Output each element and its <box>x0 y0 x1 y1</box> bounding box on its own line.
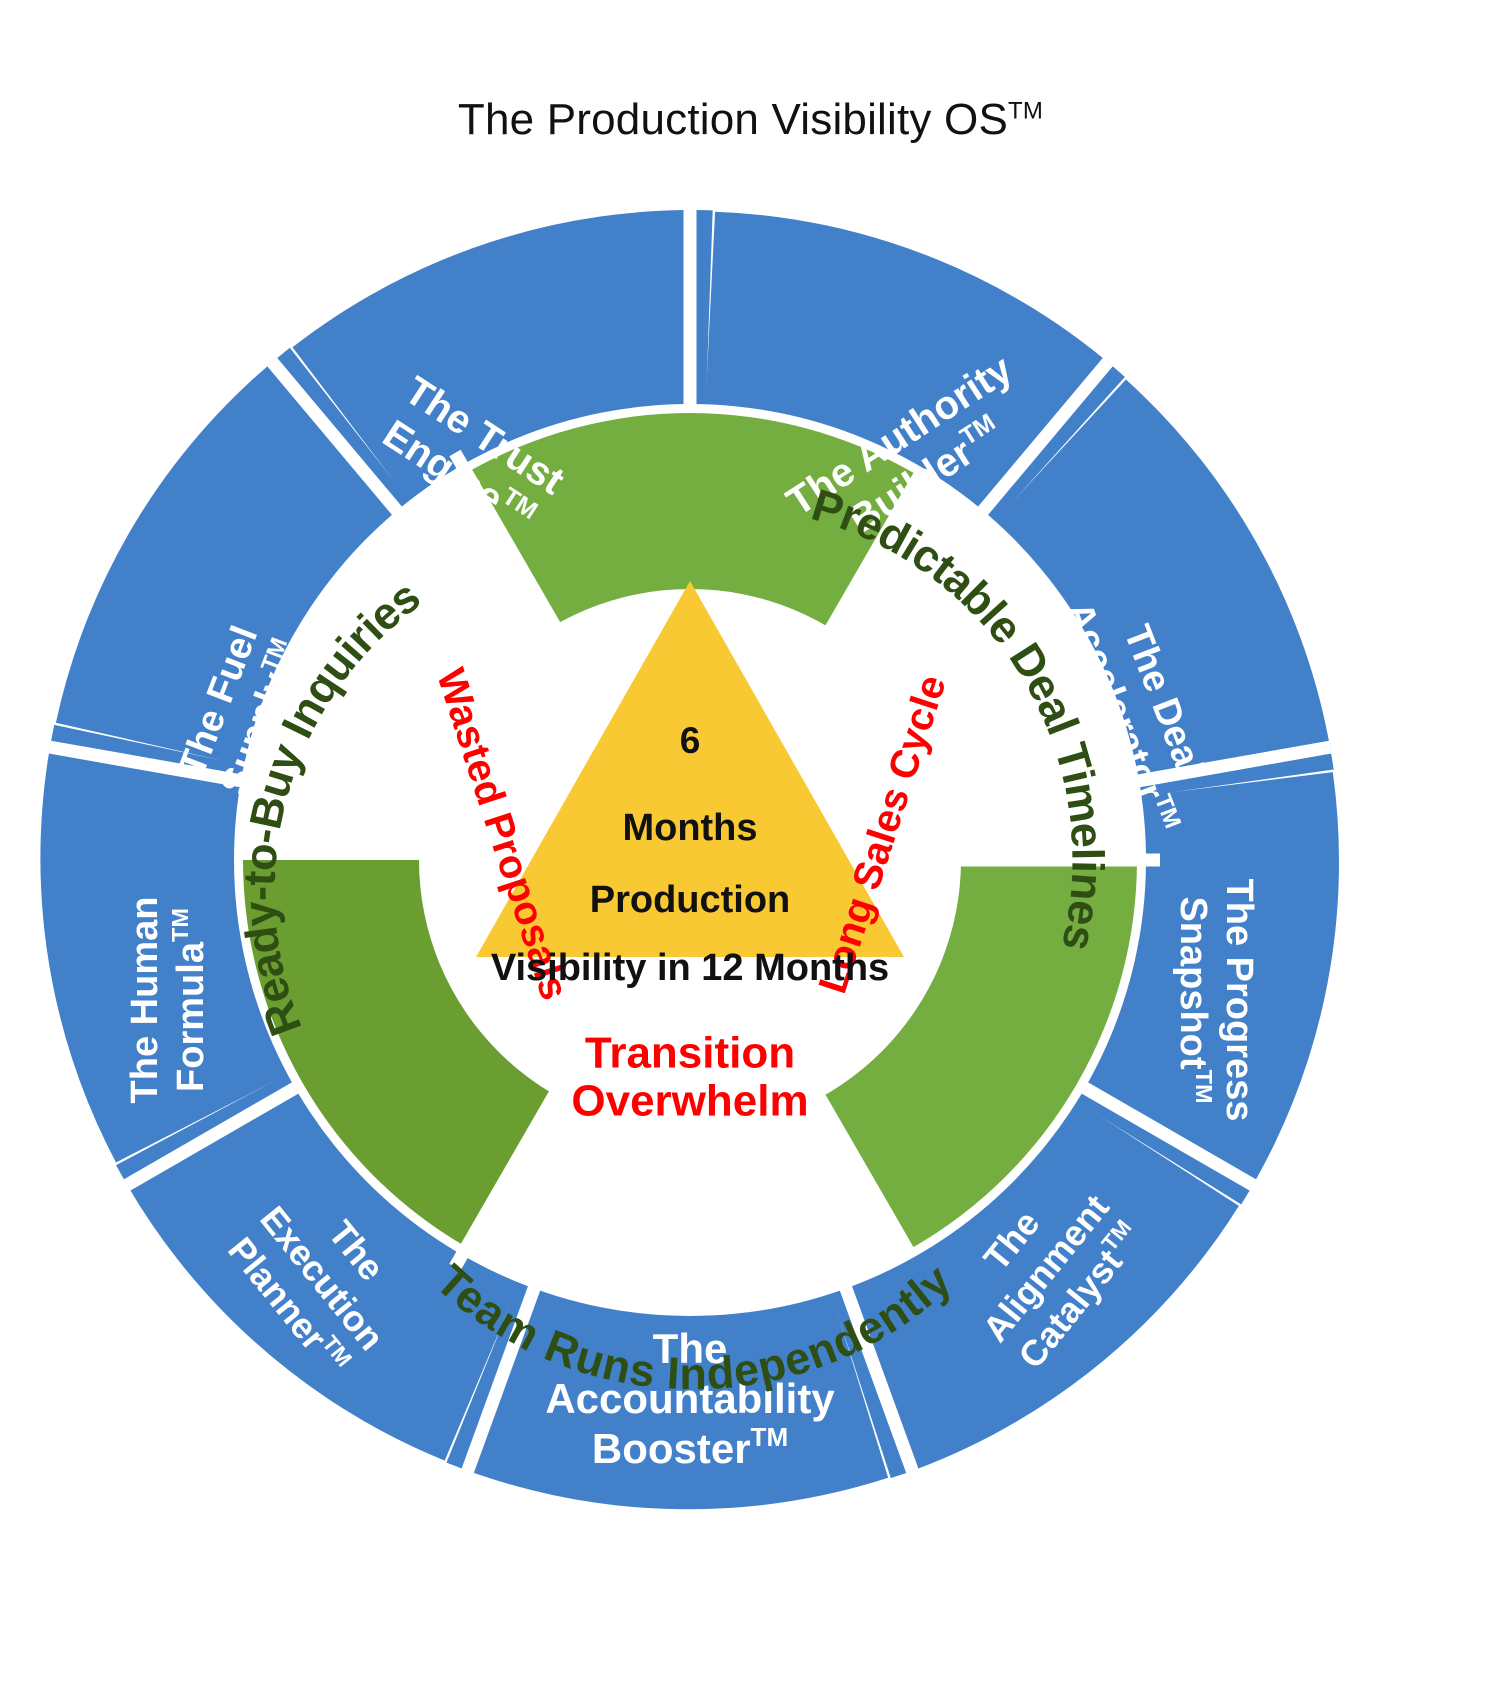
page-title-text: The Production Visibility OS <box>458 95 1008 144</box>
triangle-line-3: Production <box>590 879 791 921</box>
triangle-line-1: 6 <box>680 720 701 761</box>
page-title: The Production Visibility OSTM <box>0 95 1501 145</box>
label-line: The Human <box>124 897 166 1104</box>
pain-label-transition-overwhelm: Transition Overwhelm <box>571 1029 808 1126</box>
pain-label-line: Transition <box>585 1029 795 1078</box>
triangle-line-2: Months <box>622 807 757 849</box>
production-visibility-os-wheel: The Authority BuilderTM The Deal Acceler… <box>20 190 1360 1530</box>
page-title-trademark: TM <box>1008 97 1043 124</box>
pain-label-line: Overwhelm <box>571 1077 808 1126</box>
label-line: The Progress <box>1218 879 1260 1122</box>
triangle-line-4: Visibility in 12 Months <box>491 947 889 989</box>
